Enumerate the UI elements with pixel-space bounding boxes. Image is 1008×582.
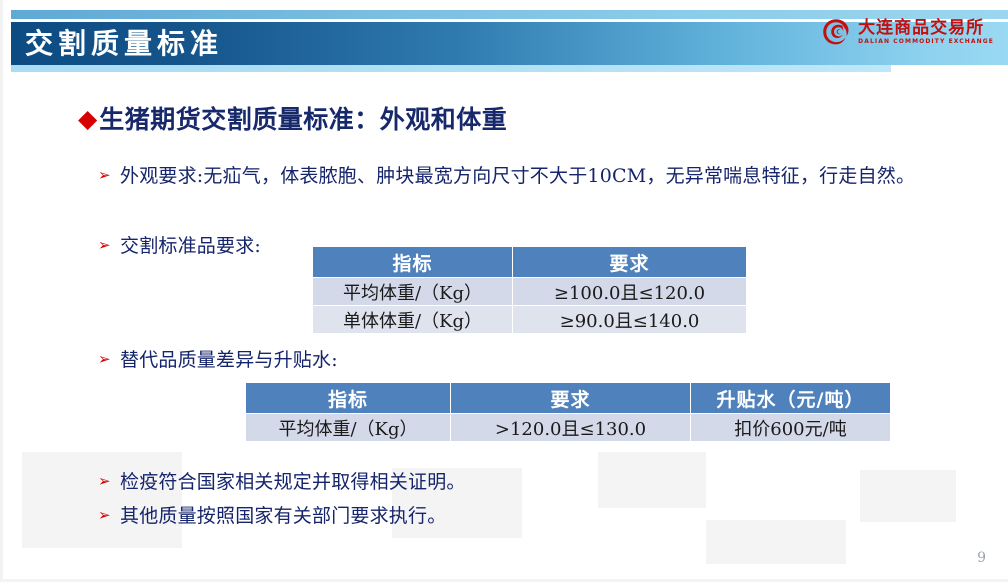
arrow-bullet-icon: ➢: [98, 162, 120, 188]
arrow-bullet-icon: ➢: [98, 346, 120, 372]
table-header-cell: 要求: [513, 247, 747, 278]
logo-chinese-name: 大连商品交易所: [858, 20, 994, 37]
bullet-item-substitute-premium: ➢ 替代品质量差异与升贴水:: [98, 346, 598, 374]
table-row: 平均体重/（Kg） ≥100.0且≤120.0: [313, 278, 747, 306]
arrow-bullet-icon: ➢: [98, 232, 120, 258]
logo-english-name: DALIAN COMMODITY EXCHANGE: [858, 39, 994, 45]
title-strip-fade: [891, 65, 1008, 72]
table-header-cell: 指标: [313, 247, 513, 278]
substitute-premium-table: 指标 要求 升贴水（元/吨） 平均体重/（Kg） >120.0且≤130.0 扣…: [245, 382, 891, 442]
table-header-cell: 要求: [451, 383, 691, 414]
table-cell: 单体体重/（Kg）: [313, 306, 513, 334]
table-row: 平均体重/（Kg） >120.0且≤130.0 扣价600元/吨: [246, 414, 891, 442]
table-cell: 平均体重/（Kg）: [246, 414, 451, 442]
table-cell: >120.0且≤130.0: [451, 414, 691, 442]
slide-content: ◆ 生猪期货交割质量标准：外观和体重 ➢ 外观要求:无疝气，体表脓胞、肿块最宽方…: [0, 84, 1008, 582]
bullet-item-quarantine: ➢ 检疫符合国家相关规定并取得相关证明。: [98, 468, 698, 496]
bullet-text-quarantine: 检疫符合国家相关规定并取得相关证明。: [120, 468, 466, 496]
dce-spiral-icon: [821, 17, 851, 47]
table-header-row: 指标 要求: [313, 247, 747, 278]
bullet-text-appearance: 外观要求:无疝气，体表脓胞、肿块最宽方向尺寸不大于10CM，无异常喘息特征，行走…: [120, 162, 915, 190]
bullet-item-appearance: ➢ 外观要求:无疝气，体表脓胞、肿块最宽方向尺寸不大于10CM，无异常喘息特征，…: [98, 162, 978, 190]
arrow-bullet-icon: ➢: [98, 468, 120, 494]
section-heading: ◆ 生猪期货交割质量标准：外观和体重: [78, 100, 507, 136]
title-accent-strip-bottom: [11, 65, 1008, 72]
bullet-text-standard-requirements: 交割标准品要求:: [120, 232, 261, 260]
table-header-cell: 指标: [246, 383, 451, 414]
table-cell: ≥90.0且≤140.0: [513, 306, 747, 334]
table-cell: 平均体重/（Kg）: [313, 278, 513, 306]
dce-logo: 大连商品交易所 DALIAN COMMODITY EXCHANGE: [821, 16, 994, 48]
table-row: 单体体重/（Kg） ≥90.0且≤140.0: [313, 306, 747, 334]
page-number: 9: [977, 550, 986, 566]
table-cell: ≥100.0且≤120.0: [513, 278, 747, 306]
slide: 交割质量标准 大连商品交易所 DALIAN COMMODITY EXCHANGE…: [0, 0, 1008, 582]
bullet-text-other-quality: 其他质量按照国家有关部门要求执行。: [120, 502, 446, 530]
section-heading-text: 生猪期货交割质量标准：外观和体重: [99, 100, 507, 136]
table-header-row: 指标 要求 升贴水（元/吨）: [246, 383, 891, 414]
logo-wordmark: 大连商品交易所 DALIAN COMMODITY EXCHANGE: [858, 20, 994, 45]
arrow-bullet-icon: ➢: [98, 502, 120, 528]
diamond-bullet-icon: ◆: [78, 106, 97, 131]
bullet-text-substitute-premium: 替代品质量差异与升贴水:: [120, 346, 338, 374]
table-cell: 扣价600元/吨: [691, 414, 891, 442]
table-header-cell: 升贴水（元/吨）: [691, 383, 891, 414]
standard-product-table: 指标 要求 平均体重/（Kg） ≥100.0且≤120.0 单体体重/（Kg） …: [312, 246, 747, 334]
bullet-item-other-quality: ➢ 其他质量按照国家有关部门要求执行。: [98, 502, 698, 530]
page-title: 交割质量标准: [25, 22, 223, 65]
